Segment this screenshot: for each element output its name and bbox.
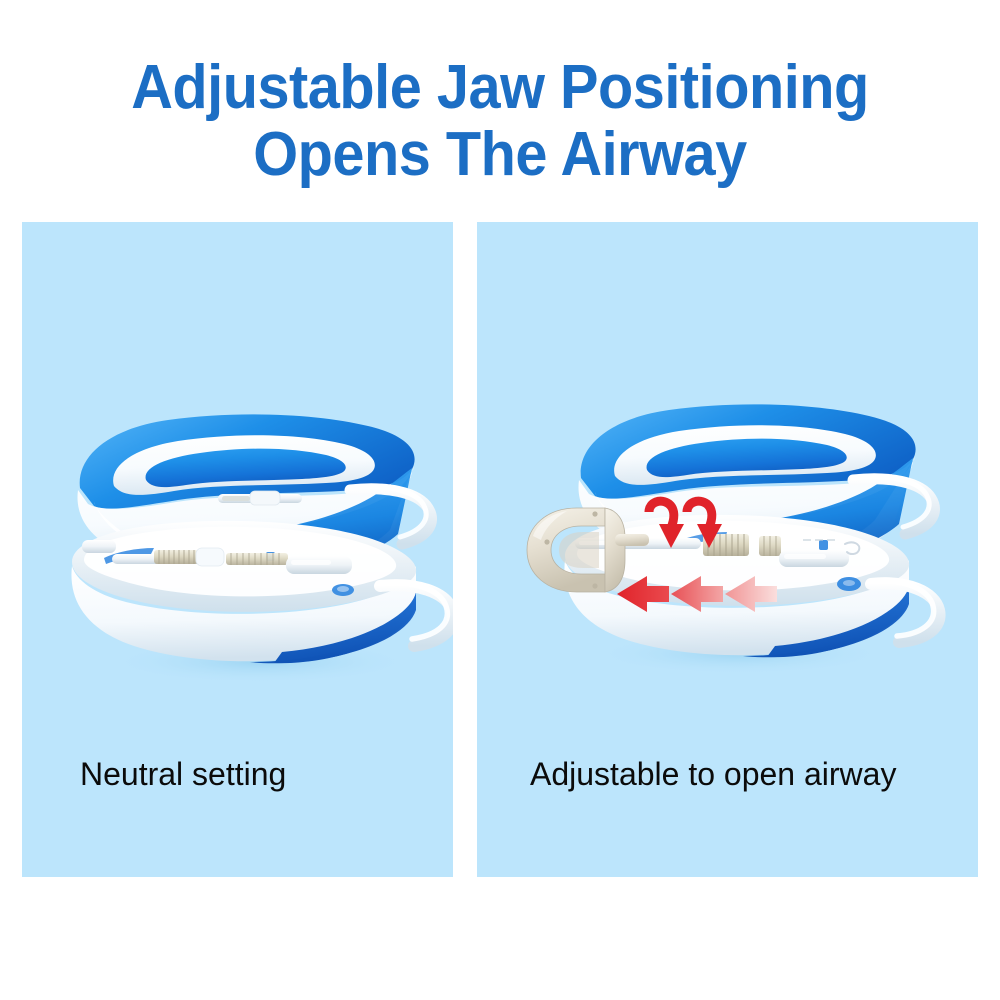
screw-barrel <box>154 550 198 564</box>
infographic-canvas: Adjustable Jaw Positioning Opens The Air… <box>0 0 1000 1000</box>
screw-barrel-secondary <box>759 536 781 556</box>
product-image-neutral <box>50 370 453 690</box>
screw-barrel <box>703 534 749 556</box>
lower-tray <box>71 521 453 663</box>
caption-adjusted: Adjustable to open airway <box>530 756 896 793</box>
key-rivet <box>592 583 597 588</box>
page-title-line-2: Opens The Airway <box>35 125 965 186</box>
product-image-adjusted <box>519 362 939 682</box>
panel-adjusted: Adjustable to open airway <box>477 222 978 877</box>
panel-neutral: Neutral setting <box>22 222 453 877</box>
key-rivet <box>544 539 549 544</box>
caption-neutral: Neutral setting <box>80 756 286 793</box>
page-title: Adjustable Jaw Positioning Opens The Air… <box>0 58 1000 186</box>
key-rivet <box>592 511 597 516</box>
page-title-line-1: Adjustable Jaw Positioning <box>35 58 965 119</box>
screw-barrel-secondary <box>226 553 288 565</box>
